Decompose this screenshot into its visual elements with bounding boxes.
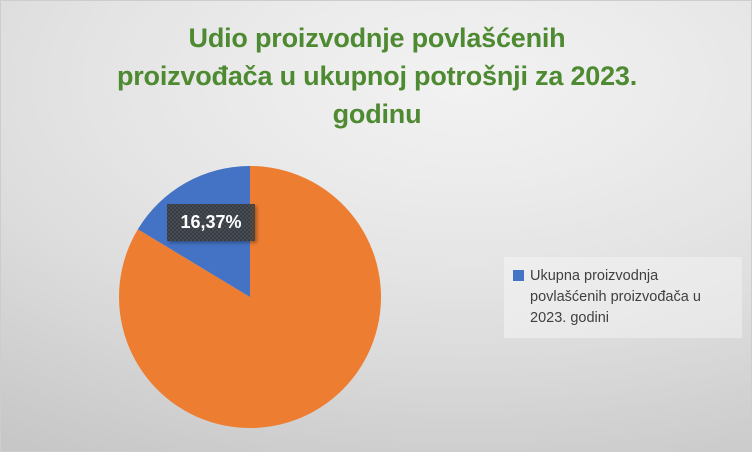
pie-plot-area — [114, 161, 386, 433]
pie-chart-svg — [114, 161, 386, 433]
chart-legend[interactable]: Ukupna proizvodnja povlašćenih proizvođa… — [504, 257, 742, 338]
chart-canvas: Udio proizvodnje povlašćenih proizvođača… — [0, 0, 752, 452]
legend-item-label: Ukupna proizvodnja povlašćenih proizvođa… — [530, 266, 730, 329]
chart-title: Udio proizvodnje povlašćenih proizvođača… — [61, 19, 693, 133]
legend-square-marker-icon — [513, 270, 524, 281]
pie-data-label: 16,37% — [167, 204, 255, 241]
legend-item[interactable]: Ukupna proizvodnja povlašćenih proizvođa… — [513, 266, 730, 329]
pie-data-label-text: 16,37% — [180, 212, 241, 233]
